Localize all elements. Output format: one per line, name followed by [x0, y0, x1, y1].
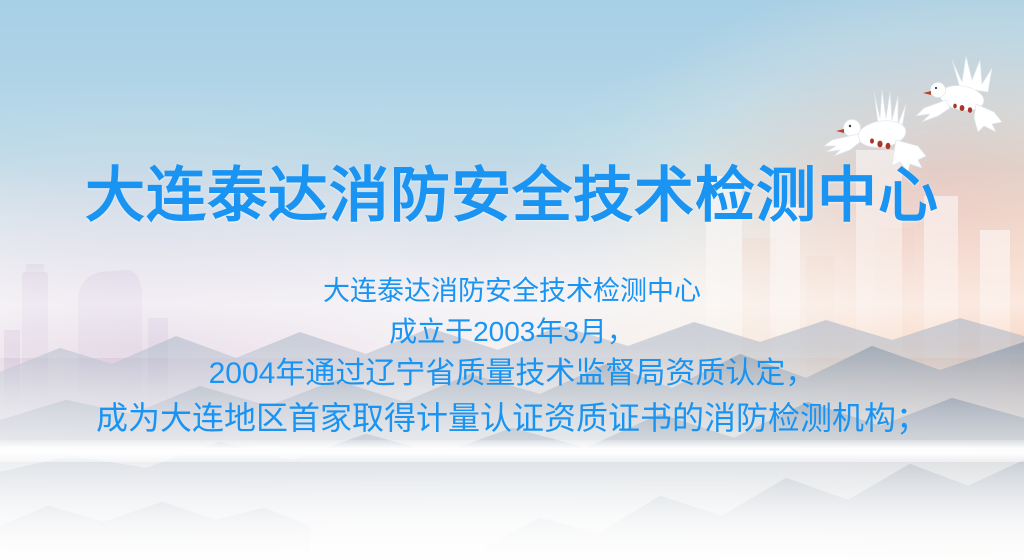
description-block: 大连泰达消防安全技术检测中心 成立于2003年3月， 2004年通过辽宁省质量技… — [0, 278, 1024, 434]
banner-hero: 大连泰达消防安全技术检测中心 大连泰达消防安全技术检测中心 成立于2003年3月… — [0, 0, 1024, 560]
description-line-1: 大连泰达消防安全技术检测中心 — [0, 278, 1024, 305]
banner-content: 大连泰达消防安全技术检测中心 大连泰达消防安全技术检测中心 成立于2003年3月… — [0, 0, 1024, 560]
page-title: 大连泰达消防安全技术检测中心 — [0, 166, 1024, 226]
description-line-4: 成为大连地区首家取得计量认证资质证书的消防检测机构； — [0, 402, 1024, 434]
description-line-2: 成立于2003年3月， — [0, 318, 1024, 346]
description-line-3: 2004年通过辽宁省质量技术监督局资质认定， — [0, 359, 1024, 389]
